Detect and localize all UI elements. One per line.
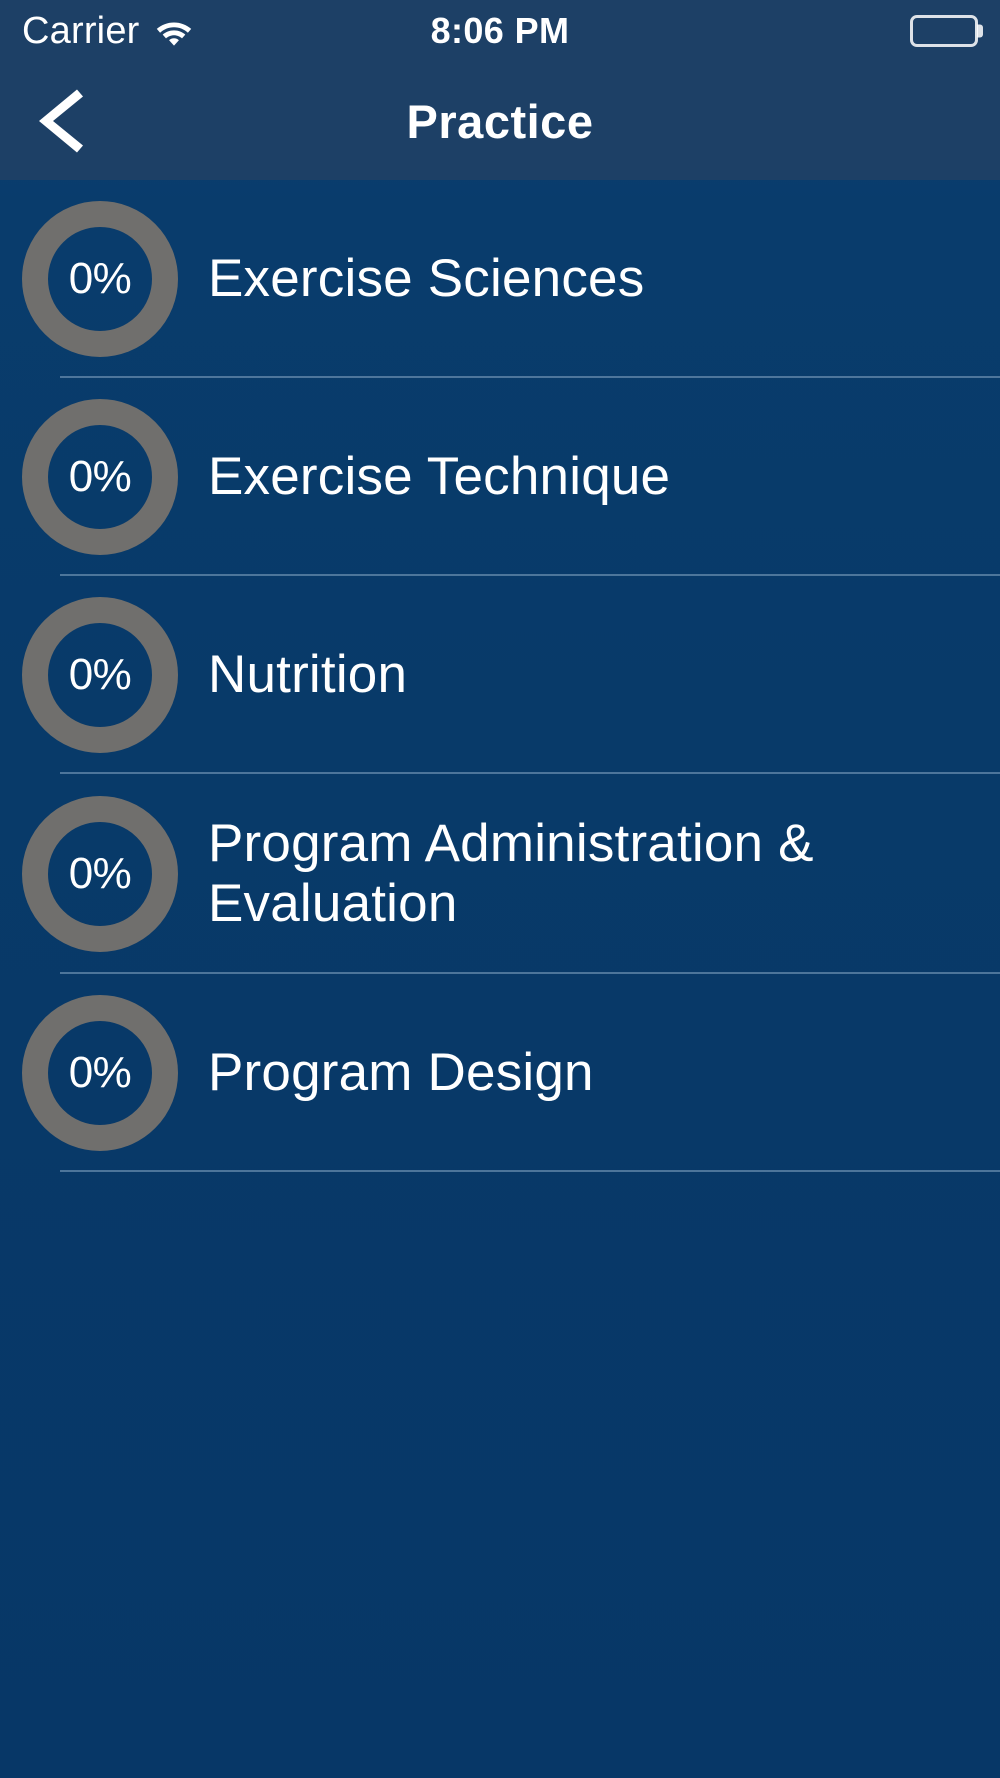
list-item-label: Nutrition: [208, 645, 407, 705]
progress-percent-label: 0%: [22, 399, 178, 555]
list-item[interactable]: 0% Nutrition: [0, 576, 1000, 774]
progress-ring: 0%: [22, 995, 178, 1151]
status-bar: Carrier 8:06 PM: [0, 0, 1000, 62]
progress-ring: 0%: [22, 399, 178, 555]
list-item-label: Exercise Sciences: [208, 249, 644, 309]
list-separator: [60, 1170, 1000, 1172]
progress-percent-label: 0%: [22, 201, 178, 357]
list-item[interactable]: 0% Exercise Technique: [0, 378, 1000, 576]
practice-category-list: 0% Exercise Sciences 0% Exercise Techniq…: [0, 180, 1000, 1172]
progress-ring: 0%: [22, 597, 178, 753]
list-item-label: Program Design: [208, 1043, 594, 1103]
list-item-label: Program Administration & Evaluation: [208, 814, 814, 934]
progress-percent-label: 0%: [22, 796, 178, 952]
wifi-icon: [154, 16, 194, 46]
navigation-bar: Practice: [0, 62, 1000, 180]
list-item[interactable]: 0% Program Administration & Evaluation: [0, 774, 1000, 974]
status-bar-left: Carrier: [22, 12, 194, 50]
progress-ring: 0%: [22, 796, 178, 952]
progress-ring: 0%: [22, 201, 178, 357]
list-item[interactable]: 0% Exercise Sciences: [0, 180, 1000, 378]
progress-percent-label: 0%: [22, 597, 178, 753]
progress-percent-label: 0%: [22, 995, 178, 1151]
status-bar-right: [910, 15, 978, 47]
list-item[interactable]: 0% Program Design: [0, 974, 1000, 1172]
app-screen: Carrier 8:06 PM P: [0, 0, 1000, 1778]
battery-full-icon: [910, 15, 978, 47]
list-item-label: Exercise Technique: [208, 447, 670, 507]
carrier-label: Carrier: [22, 12, 140, 50]
page-title: Practice: [0, 98, 1000, 145]
